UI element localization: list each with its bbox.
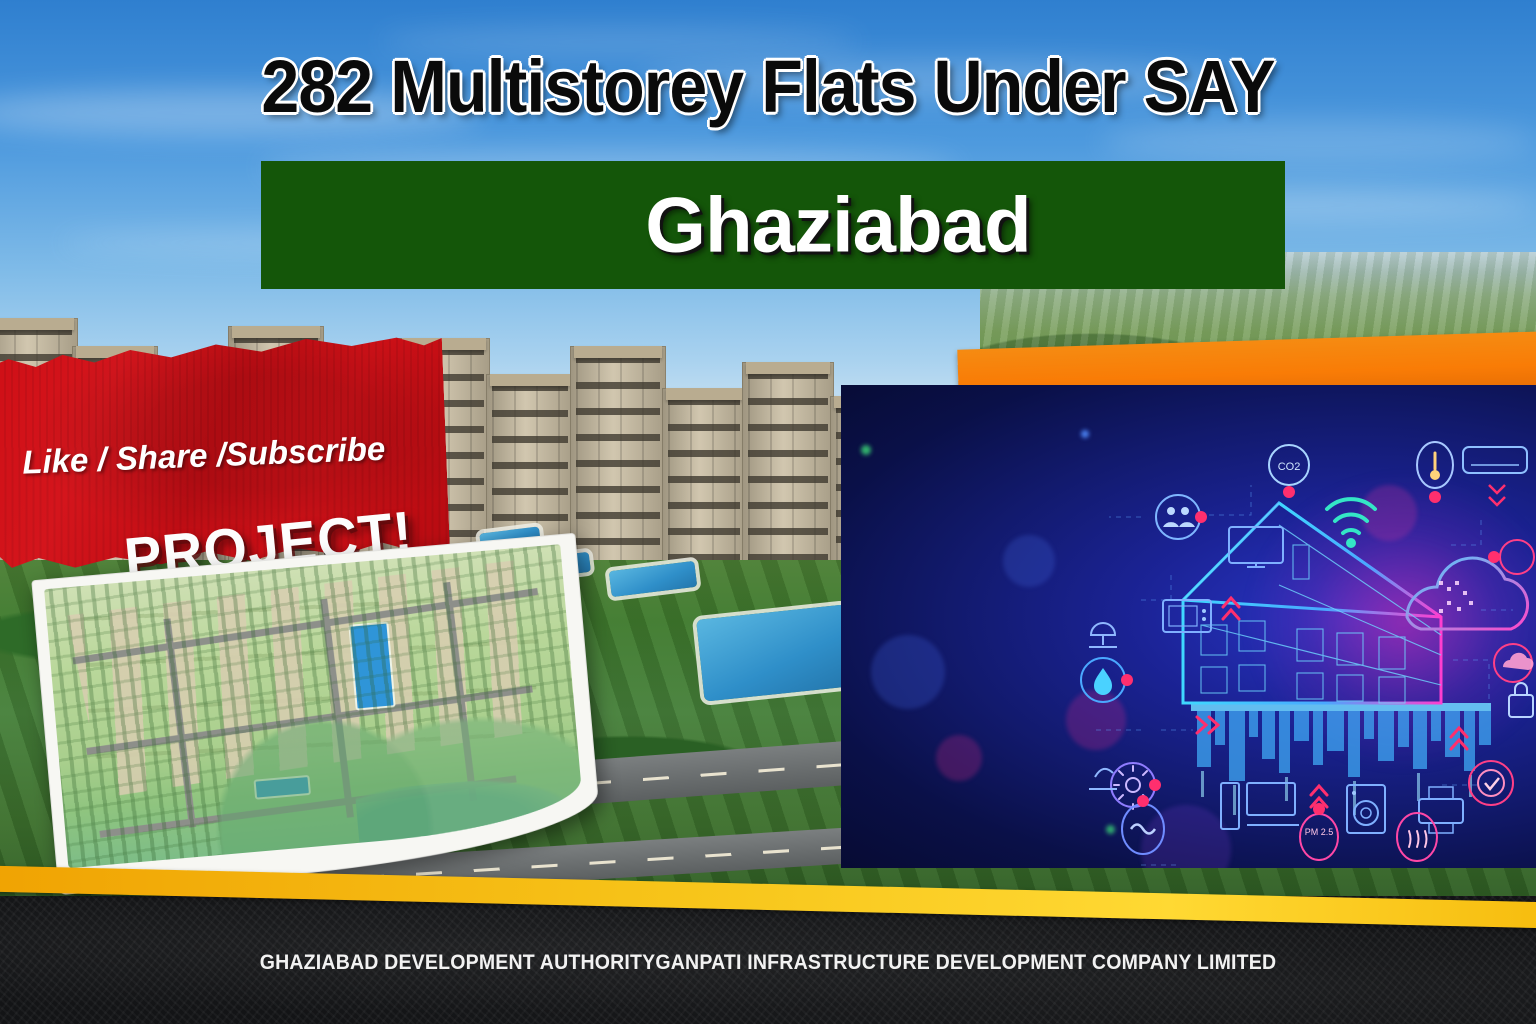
plan-road <box>443 582 477 801</box>
plan-pool <box>253 775 311 800</box>
heat-waves-icon <box>1397 813 1437 861</box>
city-banner: Ghaziabad <box>261 161 1285 289</box>
people-group-icon <box>1156 495 1207 539</box>
washing-machine-icon <box>1347 785 1385 833</box>
iot-diagram: CO2 PM 2.5 <box>841 385 1536 868</box>
air-conditioner-icon <box>1463 447 1527 505</box>
plan-pool <box>348 621 395 710</box>
wifi-icon <box>1327 499 1375 546</box>
plan-road <box>99 775 516 837</box>
plan-road <box>163 618 196 827</box>
plan-road <box>86 685 533 755</box>
co2-sensor-icon: CO2 <box>1269 445 1309 498</box>
check-shield-icon <box>1469 761 1513 805</box>
lamp-icon <box>1089 623 1117 647</box>
smart-home-iot-panel: CO2 PM 2.5 <box>841 385 1536 868</box>
lock-icon <box>1509 683 1533 717</box>
brightness-icon <box>1111 763 1161 809</box>
cloud-icon <box>1407 558 1528 629</box>
footer-credit-label: GHAZIABAD DEVELOPMENT AUTHORITYGANPATI I… <box>54 951 1482 975</box>
wave-sensor-icon <box>1122 795 1164 854</box>
printer-icon <box>1419 787 1463 833</box>
plan-road <box>72 588 538 664</box>
microwave-icon <box>1163 600 1211 632</box>
site-plan-image <box>44 544 584 868</box>
signal-dot-icon <box>1488 540 1534 574</box>
water-drop-icon <box>1081 658 1133 702</box>
page-title: 282 Multistorey Flats Under SAY <box>61 44 1474 129</box>
poster-root: 282 Multistorey Flats Under SAY Ghaziaba… <box>0 0 1536 1024</box>
pm25-sensor-icon: PM 2.5 <box>1300 803 1338 860</box>
city-banner-label: Ghaziabad <box>261 180 1285 271</box>
swimming-pool <box>696 604 854 701</box>
site-plan-card <box>31 533 602 895</box>
pm25-badge-label: PM 2.5 <box>1305 827 1334 837</box>
thermometer-icon <box>1417 442 1453 503</box>
cloud-upload-icon <box>1494 644 1534 682</box>
plan-road <box>320 599 354 818</box>
co2-badge-label: CO2 <box>1278 461 1301 473</box>
